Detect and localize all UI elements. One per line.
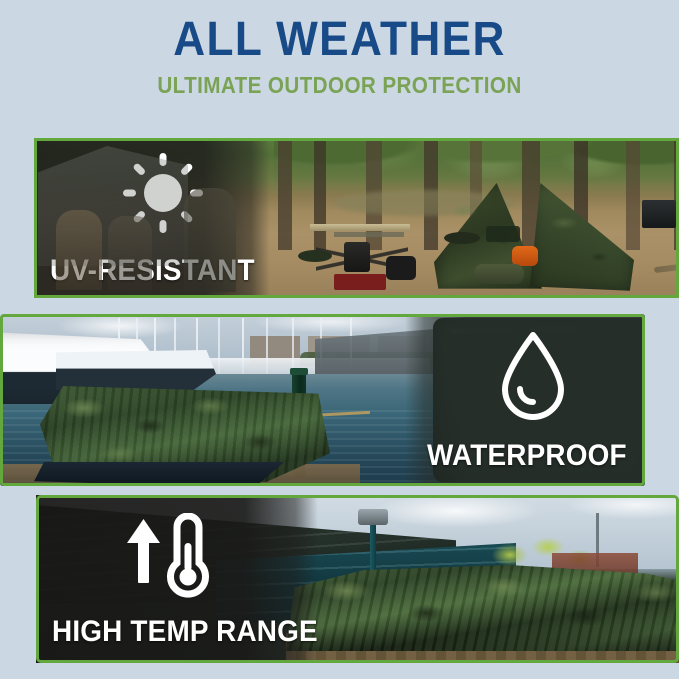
thermometer-glyph <box>171 516 206 594</box>
water-drop-icon <box>495 329 571 426</box>
green-duffel <box>474 264 524 284</box>
overlay-plate-uv-resistant: UV-RESISTANT <box>34 138 270 298</box>
lamp-head <box>358 509 388 525</box>
camp-bag <box>386 256 416 280</box>
camp-stool-secondary <box>444 232 480 244</box>
camp-stool <box>298 250 332 262</box>
ground-sticks <box>654 261 679 273</box>
feature-panel-uv-resistant: UV-RESISTANT <box>34 138 679 298</box>
overlay-plate-waterproof: WATERPROOF <box>405 314 645 486</box>
person-silhouette <box>184 188 236 292</box>
feature-panel-waterproof: WATERPROOF <box>0 314 645 486</box>
page-subtitle: ULTIMATE OUTDOOR PROTECTION <box>34 72 645 98</box>
header: ALL WEATHER ULTIMATE OUTDOOR PROTECTION <box>0 0 679 128</box>
camp-chair <box>486 226 520 242</box>
thermometer-up-arrow-icon <box>120 513 318 604</box>
white-sailboat <box>56 350 216 390</box>
camp-table <box>310 224 410 231</box>
equipment-box <box>642 200 676 228</box>
camp-bin <box>344 242 370 272</box>
dock-piling-cap <box>290 368 308 375</box>
person-silhouette <box>56 210 102 290</box>
person-silhouette <box>108 216 152 290</box>
feature-panel-high-temp-range: HIGH TEMP RANGE <box>36 495 679 663</box>
feature-label-waterproof: WATERPROOF <box>427 440 627 472</box>
page-title: ALL WEATHER <box>27 14 652 66</box>
camo-covered-equipment <box>286 565 679 651</box>
up-arrow-icon <box>127 519 160 583</box>
feature-label-high-temp-range: HIGH TEMP RANGE <box>52 616 299 648</box>
camp-crate <box>334 274 386 290</box>
cover-camo-pattern <box>286 565 679 651</box>
infographic-stage: ALL WEATHER ULTIMATE OUTDOOR PROTECTION <box>0 0 679 679</box>
orange-backpack <box>512 246 538 266</box>
overlay-plate-high-temp-range: HIGH TEMP RANGE <box>36 495 318 663</box>
